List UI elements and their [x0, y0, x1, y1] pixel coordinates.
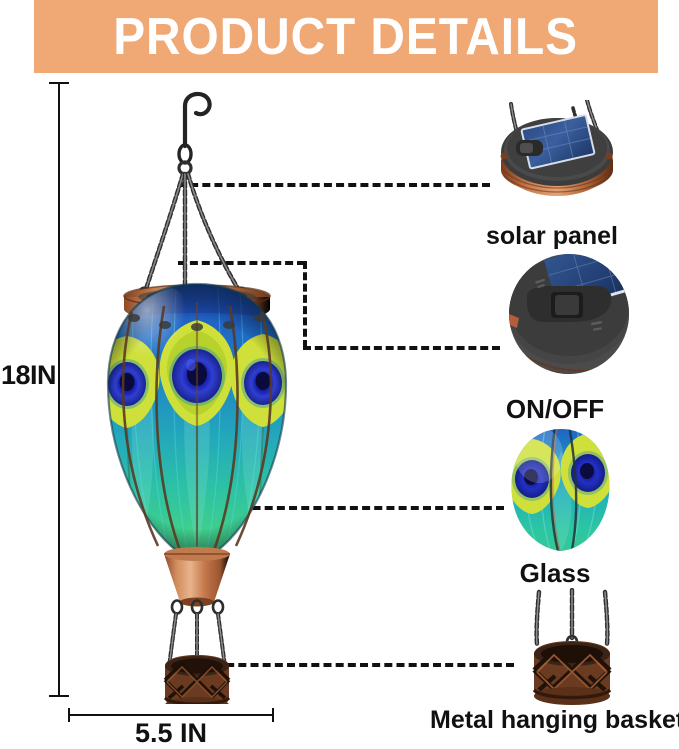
- metal-basket-thumb: [517, 588, 627, 706]
- metal-hanging-basket: [164, 655, 230, 704]
- height-dimension-label: 18IN: [1, 360, 56, 391]
- basket-body: [534, 641, 610, 705]
- switch-glyph: [516, 140, 543, 156]
- callout-label-metal-basket: Metal hanging basket: [430, 708, 679, 733]
- height-dimension-line: [58, 82, 60, 697]
- height-dimension-top-tick: [49, 82, 69, 84]
- callout-label-solar-panel: solar panel: [452, 224, 652, 249]
- width-dimension-label: 5.5 IN: [68, 718, 274, 749]
- glass-thumb: [505, 425, 617, 555]
- callout-label-on-off: ON/OFF: [470, 396, 640, 422]
- top-chains: [139, 162, 246, 302]
- height-dimension-bottom-tick: [49, 695, 69, 697]
- solar-panel-thumb: [489, 100, 624, 212]
- page-title: PRODUCT DETAILS: [114, 11, 579, 63]
- product-details-infographic: PRODUCT DETAILS 18IN 5.5 IN: [0, 0, 679, 746]
- on-off-switch-thumb: [499, 252, 639, 382]
- width-dimension-line: [68, 714, 274, 716]
- header-banner: PRODUCT DETAILS: [34, 0, 658, 73]
- callout-label-glass: Glass: [470, 560, 640, 586]
- copper-cone: [164, 547, 230, 607]
- main-product-image: [72, 84, 322, 704]
- hanging-hook: [185, 94, 210, 146]
- leader-line-on-off-seg3: [303, 346, 500, 350]
